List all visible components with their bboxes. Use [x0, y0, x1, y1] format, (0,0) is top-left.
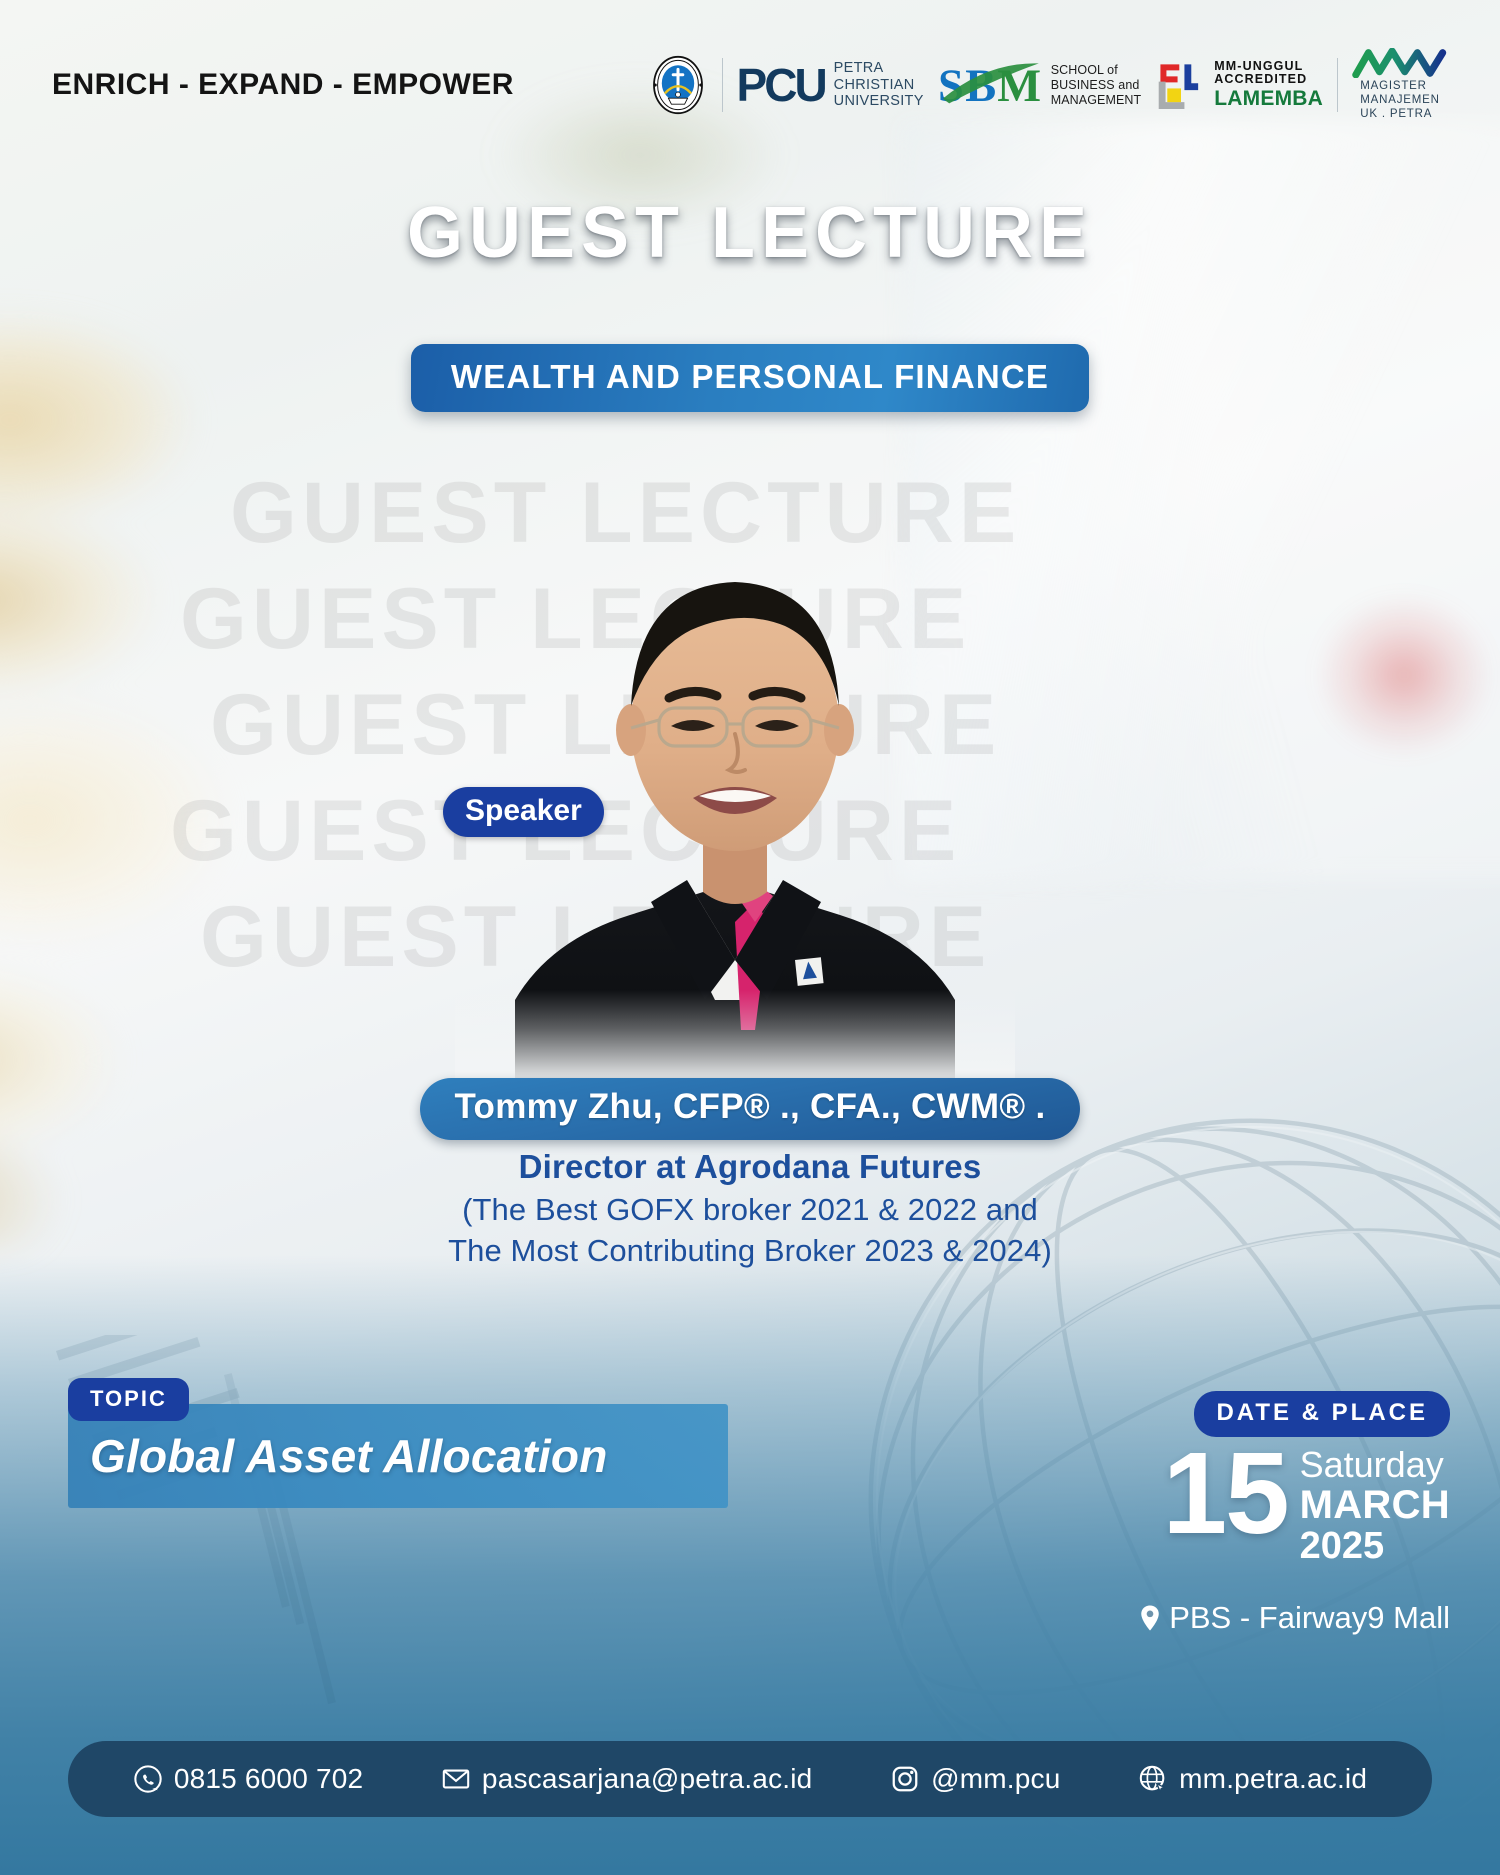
- lamemba-logo: MM-UNGGUL ACCREDITED LAMEMBA: [1155, 60, 1323, 111]
- poster-header: ENRICH - EXPAND - EMPOWER PCU: [0, 0, 1500, 170]
- contact-instagram-label: @mm.pcu: [931, 1763, 1060, 1795]
- event-weekday: Saturday: [1300, 1446, 1450, 1484]
- mm-zigzag-icon: [1352, 48, 1448, 78]
- sbm-fullname: SCHOOL of BUSINESS and MANAGEMENT: [1051, 63, 1142, 108]
- tagline: ENRICH - EXPAND - EMPOWER: [52, 68, 514, 102]
- lamemba-texts: MM-UNGGUL ACCREDITED LAMEMBA: [1214, 60, 1323, 111]
- subtitle-banner: WEALTH AND PERSONAL FINANCE: [411, 344, 1089, 412]
- lamemba-line-1: MM-UNGGUL: [1214, 60, 1323, 74]
- date-block: 15 Saturday MARCH 2025: [1163, 1440, 1450, 1567]
- lamemba-mark-icon: [1155, 61, 1207, 109]
- website-icon: [1138, 1764, 1168, 1794]
- sbm-line-2: BUSINESS and: [1051, 78, 1142, 93]
- logo-divider: [722, 58, 723, 112]
- background-red-blur: [1260, 560, 1500, 790]
- lamemba-line-2: ACCREDITED: [1214, 73, 1323, 87]
- logo-divider: [1337, 58, 1338, 112]
- page-title: GUEST LECTURE: [0, 192, 1500, 274]
- speaker-badge: Speaker: [443, 787, 604, 837]
- speaker-name: Tommy Zhu, CFP® ., CFA., CWM® .: [420, 1078, 1079, 1140]
- event-day: 15: [1163, 1440, 1288, 1547]
- sbm-line-1: SCHOOL of: [1051, 63, 1142, 78]
- sbm-line-3: MANAGEMENT: [1051, 93, 1142, 108]
- speaker-name-wrapper: Tommy Zhu, CFP® ., CFA., CWM® .: [0, 1078, 1500, 1140]
- speaker-role-line-1: Director at Agrodana Futures: [0, 1148, 1500, 1186]
- magister-manajemen-texts: MAGISTER MANAJEMEN UK . PETRA: [1360, 80, 1439, 121]
- event-month: MARCH: [1300, 1484, 1450, 1526]
- email-icon: [441, 1764, 471, 1794]
- pcu-fullname: PETRA CHRISTIAN UNIVERSITY: [834, 60, 924, 110]
- mm-line-2: MANAJEMEN: [1360, 94, 1439, 108]
- logo-strip: PCU PETRA CHRISTIAN UNIVERSITY S B M: [648, 48, 1448, 122]
- topic-title: Global Asset Allocation: [68, 1429, 608, 1483]
- speaker-role-line-2: (The Best GOFX broker 2021 & 2022 and: [0, 1192, 1500, 1228]
- contact-email[interactable]: pascasarjana@petra.ac.id: [441, 1763, 813, 1795]
- lamemba-line-3: LAMEMBA: [1214, 88, 1323, 111]
- contact-website-label: mm.petra.ac.id: [1179, 1763, 1367, 1795]
- whatsapp-icon: [133, 1764, 163, 1794]
- pcu-line-1: PETRA: [834, 60, 924, 77]
- mm-line-1: MAGISTER: [1360, 80, 1439, 94]
- speaker-role-line-3: The Most Contributing Broker 2023 & 2024…: [0, 1233, 1500, 1269]
- ukp-seal-icon: [648, 55, 708, 115]
- contact-whatsapp[interactable]: 0815 6000 702: [133, 1763, 363, 1795]
- contact-bar: 0815 6000 702 pascasarjana@petra.ac.id @…: [68, 1741, 1432, 1817]
- event-venue: PBS - Fairway9 Mall: [1169, 1600, 1450, 1636]
- topic-badge: TOPIC: [68, 1378, 189, 1421]
- event-year: 2025: [1300, 1526, 1450, 1567]
- pcu-wordmark: PCU: [737, 62, 825, 108]
- sbm-logo: S B M SCHOOL of BUSINESS and MANAGEMENT: [938, 58, 1142, 112]
- pcu-line-3: UNIVERSITY: [834, 93, 924, 110]
- date-detail-block: Saturday MARCH 2025: [1300, 1440, 1450, 1567]
- instagram-icon: [890, 1764, 920, 1794]
- location-pin-icon: [1140, 1604, 1160, 1632]
- poster-canvas: GUEST LECTURE GUEST LECTURE GUEST LECTUR…: [0, 0, 1500, 1875]
- subtitle-wrapper: WEALTH AND PERSONAL FINANCE: [0, 344, 1500, 412]
- contact-website[interactable]: mm.petra.ac.id: [1138, 1763, 1367, 1795]
- contact-whatsapp-label: 0815 6000 702: [174, 1763, 363, 1795]
- pcu-line-2: CHRISTIAN: [834, 77, 924, 94]
- mm-line-3: UK . PETRA: [1360, 108, 1439, 122]
- speaker-role-block: Director at Agrodana Futures (The Best G…: [0, 1148, 1500, 1269]
- sbm-wordmark-icon: S B M: [938, 58, 1042, 112]
- event-venue-row: PBS - Fairway9 Mall: [1140, 1600, 1450, 1636]
- contact-email-label: pascasarjana@petra.ac.id: [482, 1763, 813, 1795]
- pcu-logo: PCU PETRA CHRISTIAN UNIVERSITY: [737, 60, 924, 110]
- magister-manajemen-logo: MAGISTER MANAJEMEN UK . PETRA: [1352, 48, 1448, 121]
- contact-instagram[interactable]: @mm.pcu: [890, 1763, 1060, 1795]
